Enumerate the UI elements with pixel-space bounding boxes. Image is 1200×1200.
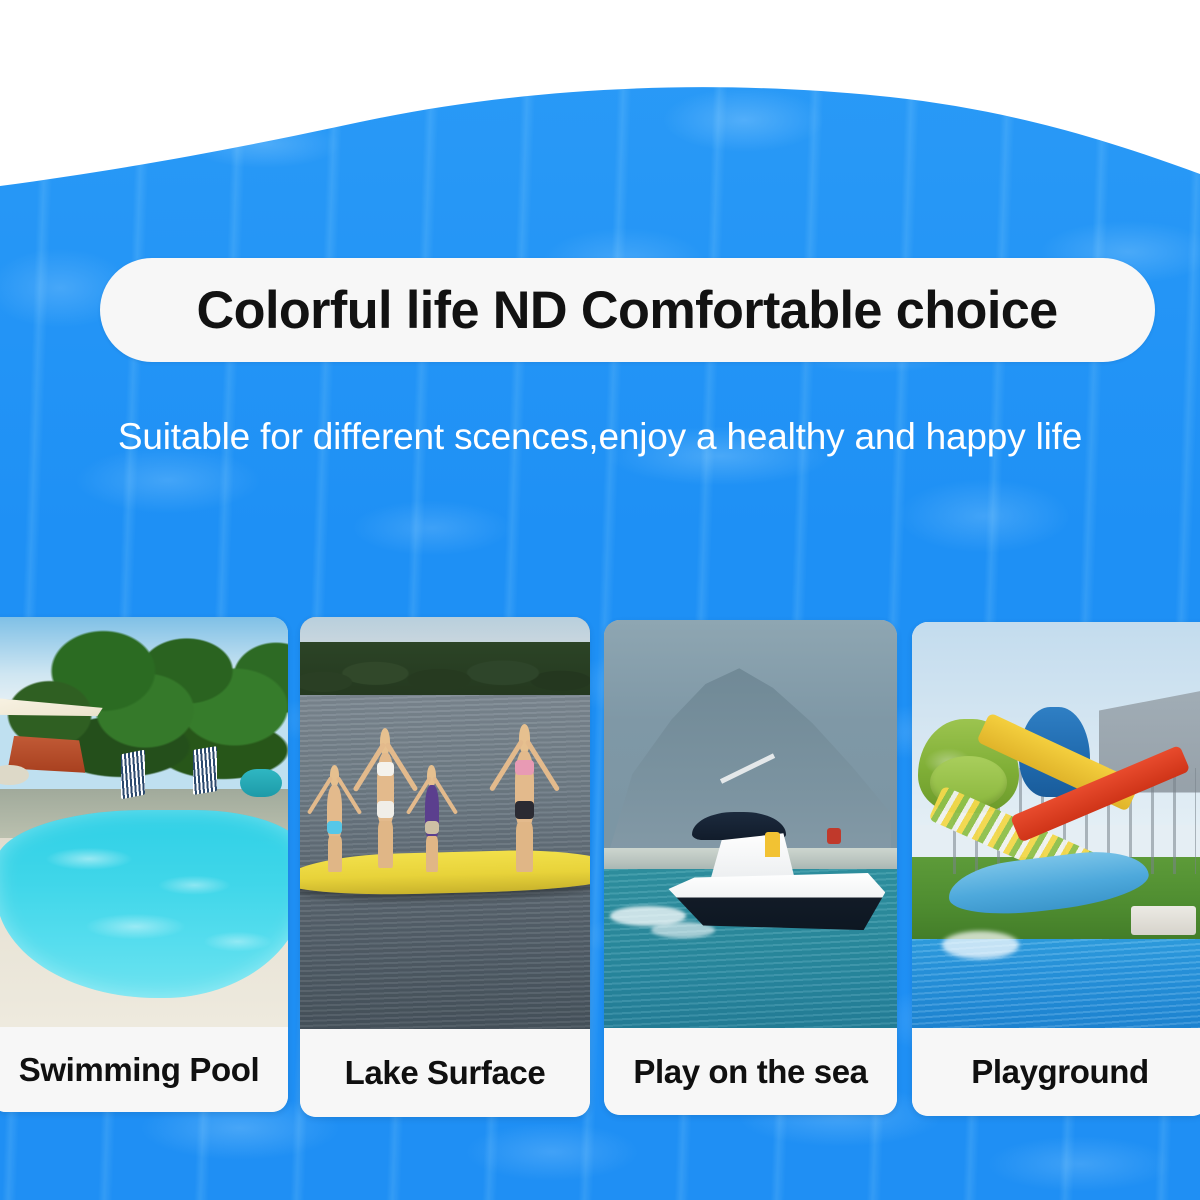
- person-boy: [317, 765, 352, 872]
- boat-hull: [668, 873, 885, 930]
- boat-person-yellow-jacket: [765, 832, 780, 856]
- scene-photo-lake-surface: [300, 617, 590, 1029]
- poster-canvas: Colorful life ND Comfortable choice Suit…: [0, 0, 1200, 1200]
- person-girl: [367, 728, 405, 868]
- scene-caption-play-on-the-sea: Play on the sea: [604, 1028, 897, 1115]
- girl-bikini-top: [377, 762, 394, 776]
- scene-photo-playground: [912, 622, 1200, 1028]
- waterpark-scene-illustration: [912, 622, 1200, 1028]
- scene-caption-swimming-pool: Swimming Pool: [0, 1027, 288, 1112]
- lake-scene-illustration: [300, 617, 590, 1029]
- park-concrete-slab: [1131, 906, 1196, 934]
- scene-card-lake-surface[interactable]: Lake Surface: [300, 617, 590, 1117]
- pool-lounge-chair-right: [193, 746, 217, 795]
- person-woman: [503, 724, 547, 872]
- woman-legs: [516, 822, 533, 872]
- boy-legs: [328, 836, 342, 872]
- person-child: [416, 765, 448, 872]
- girl-legs: [378, 821, 393, 869]
- scene-card-swimming-pool[interactable]: Swimming Pool: [0, 617, 288, 1112]
- girl-bikini-bottom: [377, 801, 394, 818]
- woman-bikini-top: [515, 760, 534, 775]
- scene-card-playground[interactable]: Playground: [912, 622, 1200, 1116]
- scene-label: Playground: [912, 1053, 1200, 1091]
- woman-bikini-bottom: [515, 801, 534, 819]
- pool-float: [240, 769, 282, 798]
- scene-label: Lake Surface: [300, 1054, 590, 1092]
- scene-photo-swimming-pool: [0, 617, 288, 1027]
- scene-label: Swimming Pool: [0, 1051, 288, 1089]
- scene-caption-playground: Playground: [912, 1028, 1200, 1116]
- park-splash: [942, 931, 1019, 959]
- scene-photo-play-on-the-sea: [604, 620, 897, 1028]
- boy-swim-trunks: [327, 821, 342, 834]
- child-shorts: [425, 821, 439, 834]
- pool-scene-illustration: [0, 617, 288, 1027]
- child-legs: [426, 836, 439, 872]
- pool-lounge-chair-left: [121, 750, 145, 800]
- lake-treeline: [300, 642, 590, 700]
- scene-label: Play on the sea: [604, 1053, 897, 1091]
- scene-caption-lake-surface: Lake Surface: [300, 1029, 590, 1117]
- boat-person-red: [827, 828, 842, 844]
- scene-card-play-on-the-sea[interactable]: Play on the sea: [604, 620, 897, 1115]
- scene-card-row: Swimming Pool: [0, 0, 1200, 1200]
- sea-scene-illustration: [604, 620, 897, 1028]
